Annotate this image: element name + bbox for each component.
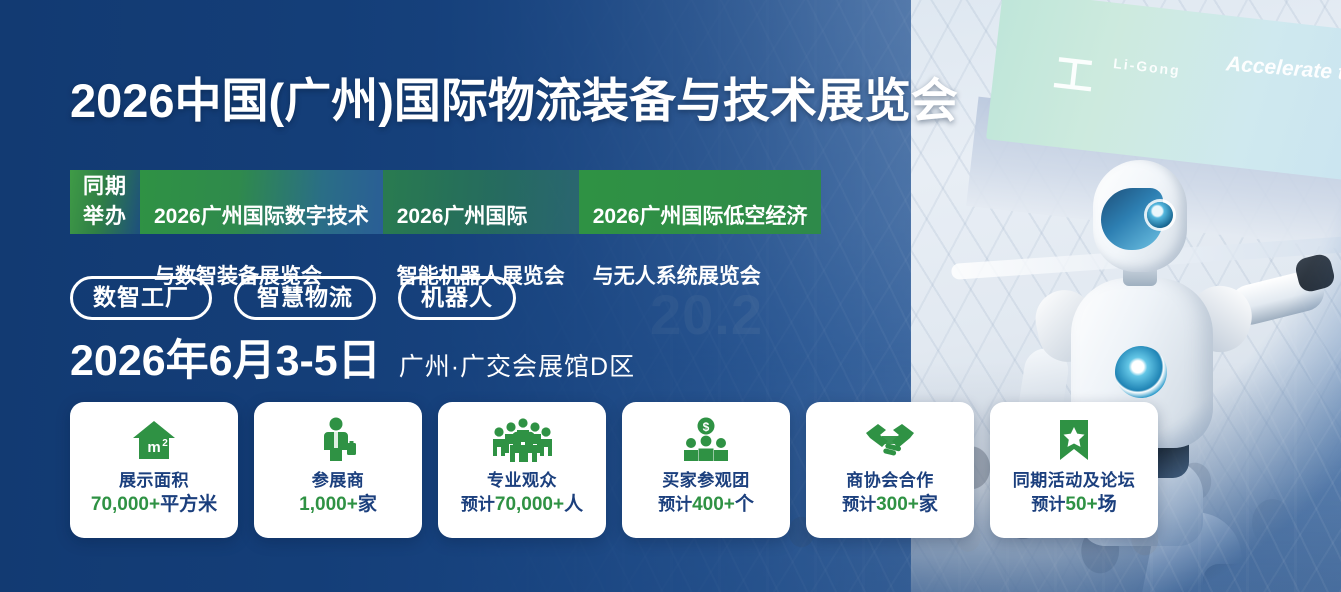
stat-number: 50+ [1065,494,1097,515]
stat-unit: 家 [919,494,938,515]
stat-prefix: 预计 [842,495,876,514]
concurrent-event-3[interactable]: 2026广州国际低空经济 与无人系统展览会 [579,170,822,234]
svg-text:m: m [147,439,160,456]
concurrent-label-line1: 同期 [78,172,132,202]
stat-number: 300+ [876,494,919,515]
stat-label: 买家参观团 [662,470,750,492]
stat-unit: 家 [358,494,377,515]
event-venue: 广州·广交会展馆D区 [399,347,635,383]
stat-label: 同期活动及论坛 [1013,470,1136,492]
stat-value: 1,000+家 [299,492,377,518]
date-venue-line: 2026年6月3-5日 广州·广交会展馆D区 [70,326,635,388]
stat-label: 专业观众 [487,470,557,492]
stat-prefix: 预计 [461,495,495,514]
concurrent-events-row: 同期 举办 2026广州国际数字技术 与数智装备展览会 2026广州国际 智能机… [70,170,821,234]
stat-card-exhibitors[interactable]: 参展商 1,000+家 [254,402,422,538]
topic-pill-row: 数智工厂 智慧物流 机器人 [70,276,516,320]
concurrent-event-2-line1: 2026广州国际 [397,202,565,232]
stat-value: 预计400+个 [658,492,754,518]
crowd-icon [491,416,553,464]
banner-content: 2026中国(广州)国际物流装备与技术展览会 同期 举办 2026广州国际数字技… [0,0,1341,592]
topic-pill-smart-factory[interactable]: 数智工厂 [70,276,212,320]
stat-number: 1,000+ [299,494,358,515]
stat-number: 400+ [692,494,735,515]
stat-unit: 个 [735,494,754,515]
buyer-group-icon: $ [681,416,731,464]
stat-value: 预计50+场 [1031,492,1116,518]
stat-label: 参展商 [312,470,365,492]
stat-number: 70,000+ [91,494,160,515]
event-date: 2026年6月3-5日 [70,326,381,388]
svg-text:2: 2 [162,438,168,449]
stat-unit: 人 [564,494,583,515]
concurrent-event-1[interactable]: 2026广州国际数字技术 与数智装备展览会 [140,170,383,234]
stat-value: 70,000+平方米 [91,492,217,518]
exhibitor-icon [318,416,358,464]
concurrent-event-1-line1: 2026广州国际数字技术 [154,202,369,232]
topic-pill-smart-logistics[interactable]: 智慧物流 [234,276,376,320]
concurrent-label-line2: 举办 [78,202,132,232]
exhibition-banner: 20.2 工 Li-Gong Accelerate the [0,0,1341,592]
stat-unit: 场 [1098,494,1117,515]
stat-card-buyer-groups[interactable]: $ 买家参观团 预计400+个 [622,402,790,538]
handshake-icon [862,416,918,464]
stat-prefix: 预计 [1031,495,1065,514]
bookmark-star-icon [1056,416,1092,464]
topic-pill-robot[interactable]: 机器人 [398,276,516,320]
concurrent-event-2[interactable]: 2026广州国际 智能机器人展览会 [383,170,579,234]
stat-number: 70,000+ [495,494,564,515]
stat-card-professional-visitors[interactable]: 专业观众 预计70,000+人 [438,402,606,538]
stat-value: 预计300+家 [842,492,938,518]
page-title: 2026中国(广州)国际物流装备与技术展览会 [70,62,958,131]
concurrent-event-3-line1: 2026广州国际低空经济 [593,202,808,232]
svg-text:$: $ [703,420,710,434]
stat-unit: 平方米 [160,494,217,515]
concurrent-label: 同期 举办 [70,170,140,234]
stat-label: 展示面积 [119,470,189,492]
stat-card-forums[interactable]: 同期活动及论坛 预计50+场 [990,402,1158,538]
concurrent-event-3-line2: 与无人系统展览会 [593,262,808,292]
stat-card-association-cooperation[interactable]: 商协会合作 预计300+家 [806,402,974,538]
stat-prefix: 预计 [658,495,692,514]
house-area-icon: m 2 [131,416,177,464]
stat-card-exhibition-area[interactable]: m 2 展示面积 70,000+平方米 [70,402,238,538]
stat-value: 预计70,000+人 [461,492,583,518]
stat-card-row: m 2 展示面积 70,000+平方米 [70,402,1158,538]
stat-label: 商协会合作 [846,470,934,492]
